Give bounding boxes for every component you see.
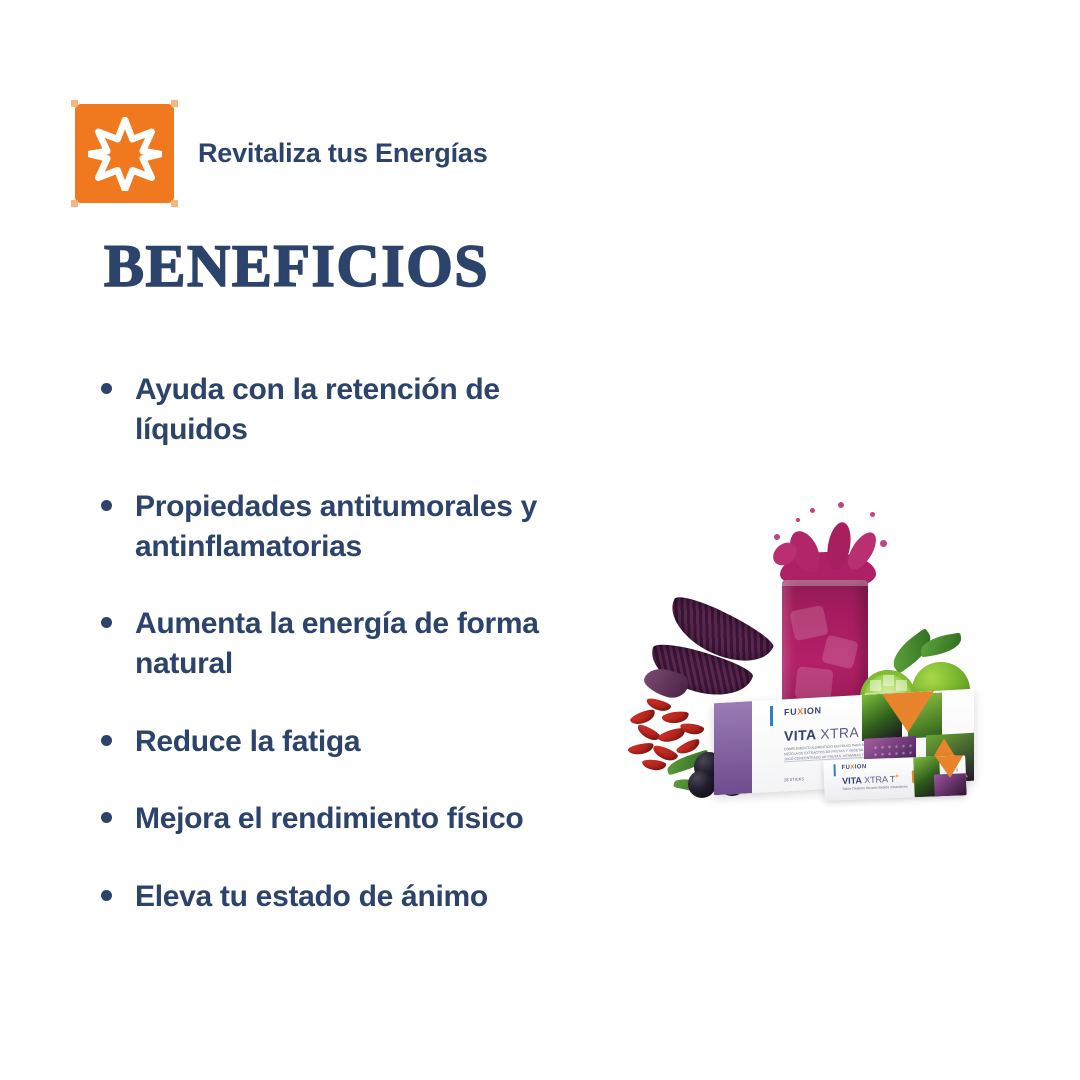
juice-splash — [766, 500, 890, 592]
bullet-icon — [101, 890, 112, 901]
fuxion-suffix: ION — [804, 705, 822, 716]
sachet-fuxion-prefix: FU — [841, 765, 850, 771]
sachet-name-light: XTRA T — [864, 774, 896, 785]
bullet-icon — [101, 500, 112, 511]
logo-container — [75, 104, 174, 203]
bullet-icon — [101, 383, 112, 394]
sachet-fuxion-logo: FUXION — [841, 764, 866, 771]
box-name-bold: VITA — [784, 726, 816, 744]
benefit-text: Eleva tu estado de ánimo — [135, 880, 488, 913]
bullet-icon — [101, 812, 112, 823]
list-item: Aumenta la energía de forma natural — [95, 604, 565, 683]
box-side-panel — [714, 701, 752, 795]
crop-handle-bottom-left[interactable] — [71, 200, 78, 207]
list-item: Propiedades antitumorales y antinflamato… — [95, 487, 565, 566]
product-sachet: FUXION VITA XTRA T+ Sabor Desierto Nevad… — [823, 755, 966, 800]
crop-handle-top-left[interactable] — [71, 100, 78, 107]
list-item: Reduce la fatiga — [95, 722, 565, 762]
bullet-icon — [101, 735, 112, 746]
benefit-text: Reduce la fatiga — [135, 725, 360, 758]
fuxion-logo: FUXION — [784, 705, 822, 717]
crop-handle-top-right[interactable] — [171, 100, 178, 107]
list-item: Ayuda con la retención de líquidos — [95, 370, 565, 449]
sachet-name-sup: + — [895, 774, 899, 780]
benefit-text: Ayuda con la retención de líquidos — [135, 373, 500, 446]
bullet-icon — [101, 617, 112, 628]
box-accent-bar — [770, 706, 773, 726]
sachet-accent-bar — [833, 764, 835, 776]
starburst-icon — [88, 117, 162, 191]
sachet-fuxion-suffix: ION — [855, 764, 867, 770]
brand-header: Revitaliza tus Energías — [75, 104, 488, 203]
brand-title: Revitaliza tus Energías — [198, 140, 488, 167]
fuxion-prefix: FU — [784, 707, 797, 718]
crop-handle-bottom-right[interactable] — [171, 200, 178, 207]
benefit-text: Propiedades antitumorales y antinflamato… — [135, 490, 537, 563]
list-item: Mejora el rendimiento físico — [95, 799, 565, 839]
list-item: Eleva tu estado de ánimo — [95, 877, 565, 917]
sachet-graphic-panel — [913, 755, 966, 797]
product-image: FUXION VITA XTRA T+ COMPLEMENTO ALIMENTI… — [628, 470, 1028, 840]
poster-canvas: Revitaliza tus Energías BENEFICIOS Ayuda… — [0, 0, 1080, 1080]
benefit-text: Mejora el rendimiento físico — [135, 802, 523, 835]
fuxion-x-icon: X — [797, 706, 804, 716]
benefits-list: Ayuda con la retención de líquidos Propi… — [95, 370, 565, 916]
sachet-name-bold: VITA — [842, 775, 862, 786]
benefit-text: Aumenta la energía de forma natural — [135, 607, 539, 680]
page-title: BENEFICIOS — [104, 236, 489, 296]
box-quantity: 28 STICKS — [784, 776, 804, 782]
